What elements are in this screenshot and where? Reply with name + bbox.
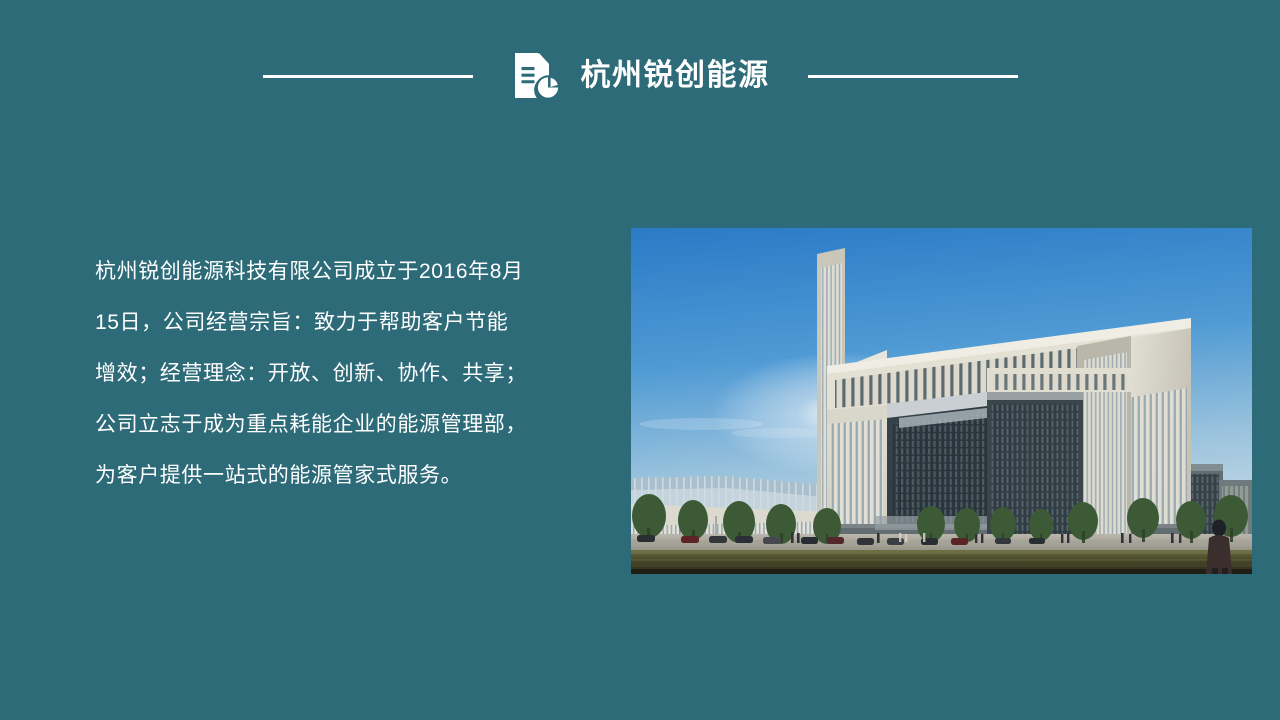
header-rule-right xyxy=(808,75,1018,78)
description-line: 增效；经营理念：开放、创新、协作、共享； xyxy=(95,348,595,399)
office-campus-photo xyxy=(631,228,1252,574)
description-line: 公司立志于成为重点耗能企业的能源管理部， xyxy=(95,399,595,450)
description-line: 15日，公司经营宗旨：致力于帮助客户节能 xyxy=(95,297,595,348)
brand-lockup: 杭州锐创能源 xyxy=(511,50,770,102)
slide-title: 杭州锐创能源 xyxy=(581,61,770,91)
document-chart-icon xyxy=(511,50,563,102)
header-rule-left xyxy=(263,75,473,78)
company-description: 杭州锐创能源科技有限公司成立于2016年8月 15日，公司经营宗旨：致力于帮助客… xyxy=(95,246,595,501)
description-line: 为客户提供一站式的能源管家式服务。 xyxy=(95,450,595,501)
description-line: 杭州锐创能源科技有限公司成立于2016年8月 xyxy=(95,246,595,297)
slide-header: 杭州锐创能源 xyxy=(0,46,1280,106)
slide-root: 杭州锐创能源 杭州锐创能源科技有限公司成立于2016年8月 15日，公司经营宗旨… xyxy=(0,0,1280,720)
